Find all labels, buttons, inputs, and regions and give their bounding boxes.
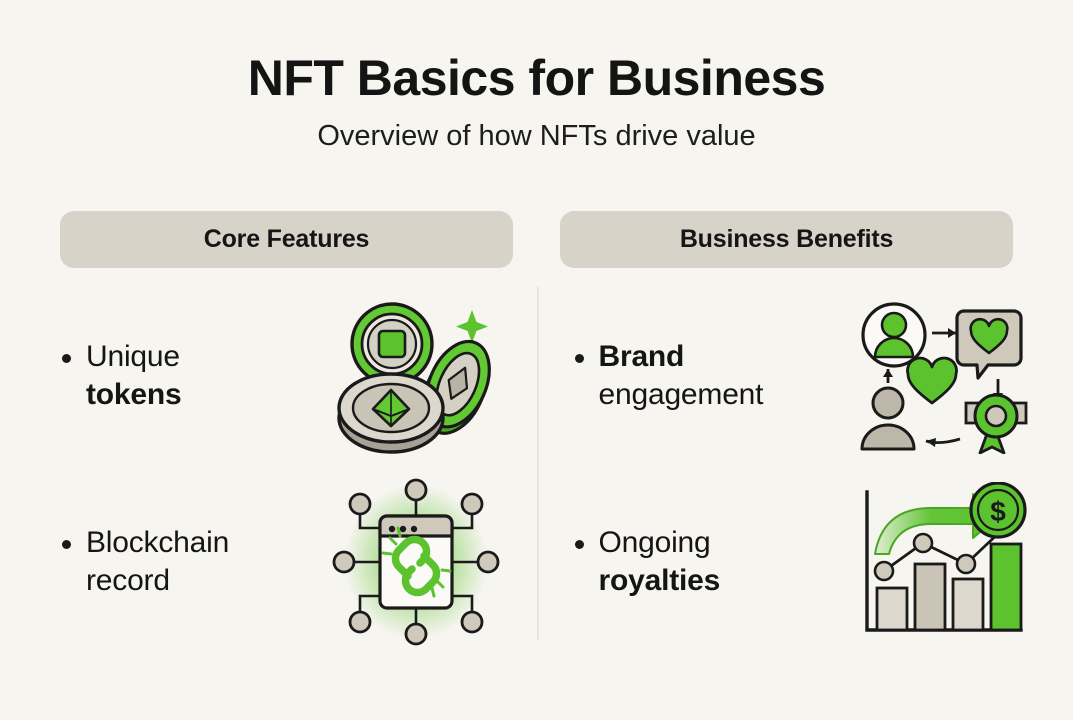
bullet-dot-icon — [62, 354, 71, 363]
list-item: Brand engagement — [537, 283, 1073, 469]
list-item: Blockchain record — [0, 469, 537, 655]
bullet-dot-icon — [62, 540, 71, 549]
column-header-business-benefits: Business Benefits — [560, 211, 1013, 268]
blockchain-network-icon — [324, 475, 509, 650]
brand-engagement-cycle-icon — [848, 289, 1033, 464]
bullet-line-1: Brand — [599, 340, 685, 373]
bullet-dot-icon — [575, 354, 584, 363]
bullet-line-1: Blockchain — [86, 526, 229, 559]
bullet-blockchain-record: Blockchain record — [62, 524, 324, 601]
bullet-line-1: Unique — [86, 340, 180, 373]
bullet-unique-tokens: Unique tokens — [62, 338, 324, 415]
bullet-line-2: royalties — [599, 564, 721, 597]
nft-coins-icon — [324, 289, 509, 464]
column-business-benefits: Brand engagement — [537, 283, 1073, 655]
bullet-text: Blockchain record — [86, 524, 229, 601]
column-header-core-features: Core Features — [60, 211, 513, 268]
bullet-line-1: Ongoing — [599, 526, 711, 559]
bullet-text: Ongoing royalties — [599, 524, 721, 601]
list-item: Ongoing royalties — [537, 469, 1073, 655]
bullet-brand-engagement: Brand engagement — [575, 338, 849, 415]
bullet-line-2: engagement — [599, 378, 764, 411]
page-title: NFT Basics for Business — [0, 52, 1073, 105]
bullet-ongoing-royalties: Ongoing royalties — [575, 524, 849, 601]
bullet-text: Brand engagement — [599, 338, 764, 415]
growth-chart-dollar-icon: $ — [848, 475, 1033, 650]
column-header-label: Business Benefits — [680, 225, 893, 254]
page-header: NFT Basics for Business Overview of how … — [0, 0, 1073, 153]
svg-text:$: $ — [990, 496, 1006, 527]
column-headers: Core Features Business Benefits — [0, 211, 1073, 268]
content-grid: Unique tokens — [0, 283, 1073, 655]
page-subtitle: Overview of how NFTs drive value — [0, 121, 1073, 153]
bullet-line-2: record — [86, 564, 170, 597]
list-item: Unique tokens — [0, 283, 537, 469]
bullet-text: Unique tokens — [86, 338, 182, 415]
column-header-label: Core Features — [204, 225, 370, 254]
bullet-dot-icon — [575, 540, 584, 549]
bullet-line-2: tokens — [86, 378, 182, 411]
column-core-features: Unique tokens — [0, 283, 537, 655]
